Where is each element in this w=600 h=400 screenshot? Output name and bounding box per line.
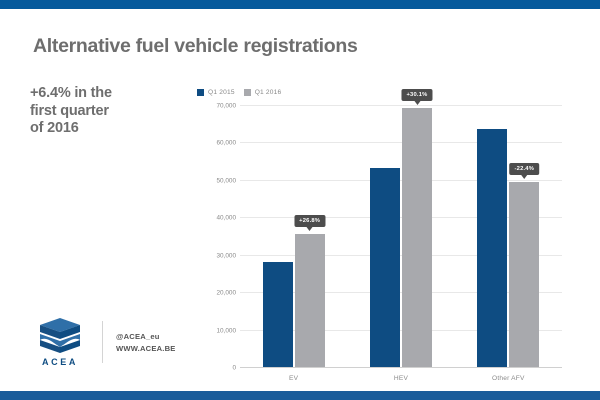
bar-group: -22.4% — [477, 106, 539, 368]
y-axis-tick-label: 50,000 — [216, 177, 236, 184]
x-axis-category-label: Other AFV — [476, 375, 540, 382]
bottom-accent-band — [0, 391, 600, 400]
poster-canvas: Alternative fuel vehicle registrations +… — [0, 9, 600, 391]
legend-swatch-q1-2015 — [197, 89, 204, 96]
change-badge: -22.4% — [510, 163, 540, 175]
subtitle-line: +6.4% in the — [30, 85, 170, 103]
website-url[interactable]: WWW.ACEA.BE — [116, 344, 176, 353]
footer: ACEA @ACEA_eu WWW.ACEA.BE — [34, 317, 176, 367]
bar-q1-2016[interactable]: +26.8% — [295, 234, 325, 368]
y-axis-tick-label: 30,000 — [216, 252, 236, 259]
acea-wordmark: ACEA — [42, 357, 78, 367]
subtitle-line: of 2016 — [30, 120, 170, 138]
legend-item-q1-2015: Q1 2015 — [197, 89, 235, 96]
x-axis-labels: EVHEVOther AFV — [240, 375, 562, 382]
y-axis-tick-label: 60,000 — [216, 140, 236, 147]
acea-logo: ACEA — [34, 317, 86, 367]
bar-chart-plot: 010,00020,00030,00040,00050,00060,00070,… — [222, 106, 562, 368]
y-axis-tick-label: 10,000 — [216, 327, 236, 334]
bar-group: +30.1% — [370, 106, 432, 368]
bar-q1-2015[interactable] — [477, 129, 507, 368]
legend-label-q1-2016: Q1 2016 — [255, 89, 282, 96]
bar-q1-2016[interactable]: +30.1% — [402, 108, 432, 368]
acea-logo-icon — [37, 317, 83, 355]
legend-item-q1-2016: Q1 2016 — [244, 89, 282, 96]
y-axis-tick-label: 70,000 — [216, 103, 236, 110]
twitter-handle[interactable]: @ACEA_eu — [116, 332, 176, 341]
footer-divider — [102, 321, 103, 363]
bar-q1-2015[interactable] — [370, 168, 400, 368]
page-title: Alternative fuel vehicle registrations — [33, 35, 358, 58]
subtitle-callout: +6.4% in thefirst quarterof 2016 — [30, 85, 170, 138]
top-accent-band — [0, 0, 600, 9]
legend-swatch-q1-2016 — [244, 89, 251, 96]
x-axis-category-label: EV — [262, 375, 326, 382]
legend-label-q1-2015: Q1 2015 — [208, 89, 235, 96]
bar-q1-2016[interactable]: -22.4% — [509, 182, 539, 368]
y-axis-tick-label: 0 — [232, 365, 236, 372]
subtitle-line: first quarter — [30, 103, 170, 121]
x-axis-line — [240, 367, 562, 368]
footer-contact: @ACEA_eu WWW.ACEA.BE — [116, 332, 176, 353]
x-axis-category-label: HEV — [369, 375, 433, 382]
bar-groups: +26.8%+30.1%-22.4% — [240, 106, 562, 368]
y-axis-tick-label: 20,000 — [216, 290, 236, 297]
change-badge: +26.8% — [294, 215, 325, 227]
chart-legend: Q1 2015 Q1 2016 — [197, 89, 281, 96]
bar-group: +26.8% — [263, 106, 325, 368]
y-axis-tick-label: 40,000 — [216, 215, 236, 222]
change-badge: +30.1% — [401, 89, 432, 101]
bar-q1-2015[interactable] — [263, 262, 293, 368]
